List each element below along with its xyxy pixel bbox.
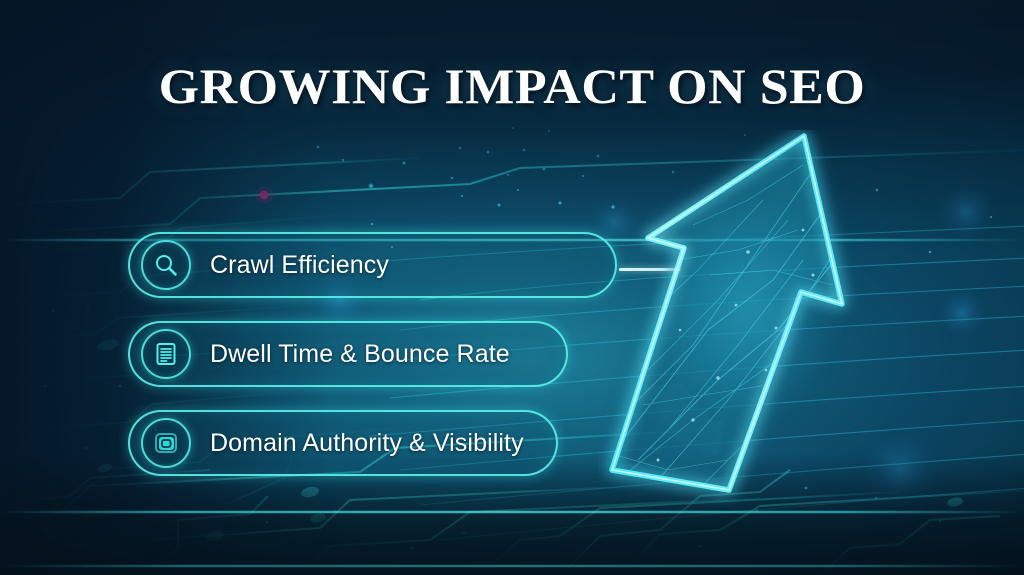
document-lines-icon (141, 329, 191, 379)
horizon-line-bottom (0, 511, 1024, 513)
feature-card-dwell-time-bounce-rate[interactable]: Dwell Time & Bounce Rate (128, 321, 568, 387)
growth-arrow-graphic (598, 130, 898, 510)
feature-card-label: Crawl Efficiency (210, 251, 389, 280)
display-badge-icon (141, 418, 191, 468)
feature-card-crawl-efficiency[interactable]: Crawl Efficiency (128, 232, 617, 298)
horizon-line-bottom-2 (0, 565, 1024, 567)
feature-card-list: Crawl Efficiency Dwell Time & Bounce Rat… (128, 232, 617, 499)
search-icon (141, 240, 191, 290)
card-to-arrow-connector-line (619, 268, 681, 271)
feature-card-label: Domain Authority & Visibility (210, 429, 524, 458)
infographic-slide: GROWING IMPACT ON SEO Crawl Efficiency (0, 0, 1024, 575)
page-title: GROWING IMPACT ON SEO (0, 57, 1024, 115)
feature-card-label: Dwell Time & Bounce Rate (210, 340, 510, 369)
feature-card-domain-authority-visibility[interactable]: Domain Authority & Visibility (128, 410, 558, 476)
